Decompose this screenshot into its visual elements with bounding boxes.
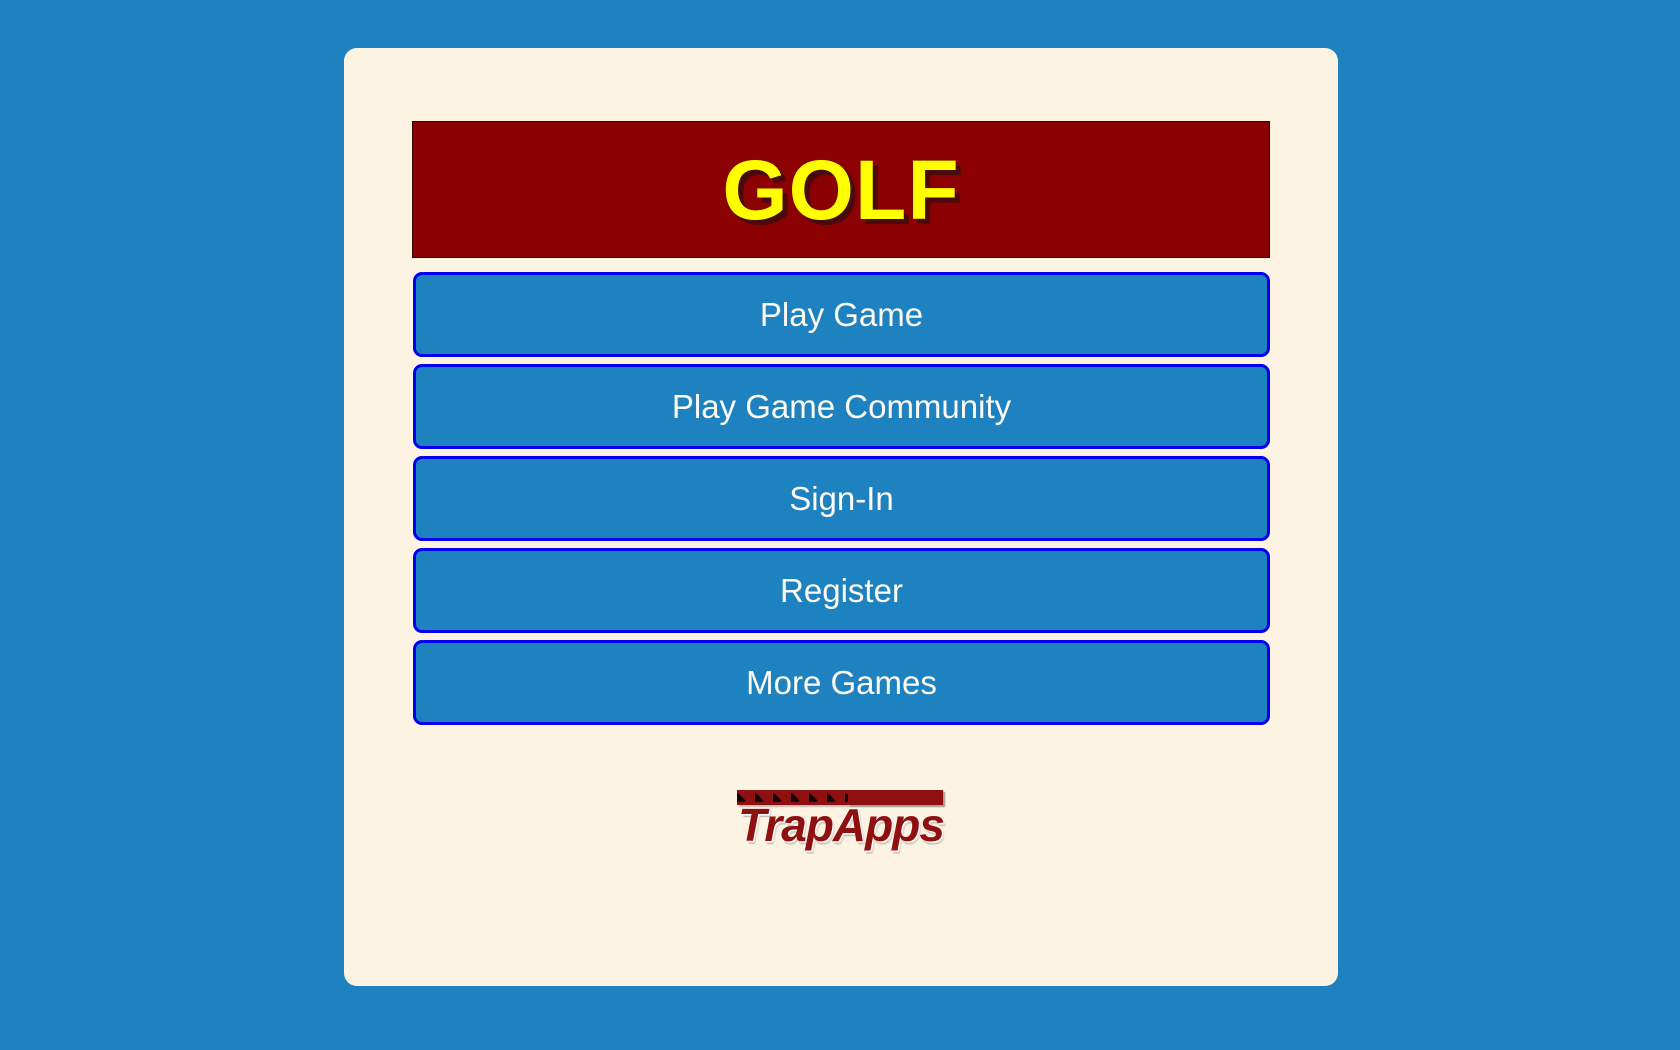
app-card: GOLF Play Game Play Game Community Sign-… bbox=[344, 48, 1338, 986]
play-game-button[interactable]: Play Game bbox=[413, 272, 1270, 357]
main-menu: Play Game Play Game Community Sign-In Re… bbox=[413, 272, 1270, 725]
more-games-button[interactable]: More Games bbox=[413, 640, 1270, 725]
title-banner: GOLF bbox=[412, 121, 1270, 258]
game-title: GOLF bbox=[722, 148, 959, 232]
sign-in-button[interactable]: Sign-In bbox=[413, 456, 1270, 541]
register-button[interactable]: Register bbox=[413, 548, 1270, 633]
footer-logo-area: TrapApps bbox=[344, 788, 1338, 854]
logo-wordmark: TrapApps bbox=[730, 796, 952, 854]
trapapps-logo[interactable]: TrapApps bbox=[730, 788, 952, 854]
play-game-community-button[interactable]: Play Game Community bbox=[413, 364, 1270, 449]
